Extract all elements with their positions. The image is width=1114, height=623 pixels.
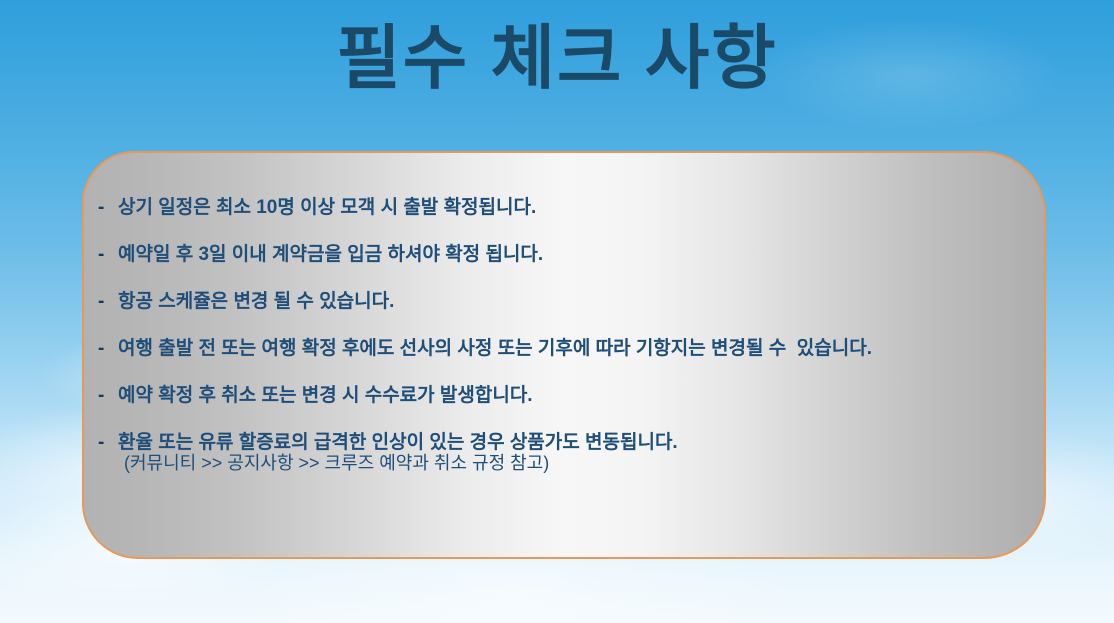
notice-list: - 상기 일정은 최소 10명 이상 모객 시 출발 확정됩니다. - 예약일 …	[98, 192, 1034, 474]
list-item: - 예약 확정 후 취소 또는 변경 시 수수료가 발생합니다.	[98, 380, 1034, 427]
bullet-dash-icon: -	[98, 197, 118, 219]
reference-note: (커뮤니티 >> 공지사항 >> 크루즈 예약과 취소 규정 참고)	[124, 449, 549, 475]
bullet-dash-icon: -	[98, 244, 118, 266]
list-item-text: 상기 일정은 최소 10명 이상 모객 시 출발 확정됩니다.	[118, 192, 536, 219]
bullet-dash-icon: -	[98, 385, 118, 407]
bullet-dash-icon: -	[98, 291, 118, 313]
list-item: - 항공 스케쥴은 변경 될 수 있습니다.	[98, 286, 1034, 333]
list-item: - 상기 일정은 최소 10명 이상 모객 시 출발 확정됩니다.	[98, 192, 1034, 239]
list-item: - 예약일 후 3일 이내 계약금을 입금 하셔야 확정 됩니다.	[98, 239, 1034, 286]
bullet-dash-icon: -	[98, 338, 118, 360]
list-item-text: 예약 확정 후 취소 또는 변경 시 수수료가 발생합니다.	[118, 380, 533, 407]
list-item: - 여행 출발 전 또는 여행 확정 후에도 선사의 사정 또는 기후에 따라 …	[98, 333, 1034, 380]
list-item-text: 여행 출발 전 또는 여행 확정 후에도 선사의 사정 또는 기후에 따라 기항…	[118, 333, 872, 360]
list-item-text: 항공 스케쥴은 변경 될 수 있습니다.	[118, 286, 394, 313]
page-title: 필수 체크 사항	[0, 22, 1114, 96]
slide-canvas: 필수 체크 사항 - 상기 일정은 최소 10명 이상 모객 시 출발 확정됩니…	[0, 0, 1114, 623]
bullet-dash-icon: -	[98, 432, 118, 454]
notice-card: - 상기 일정은 최소 10명 이상 모객 시 출발 확정됩니다. - 예약일 …	[82, 151, 1046, 559]
list-item-text: 예약일 후 3일 이내 계약금을 입금 하셔야 확정 됩니다.	[118, 239, 543, 266]
